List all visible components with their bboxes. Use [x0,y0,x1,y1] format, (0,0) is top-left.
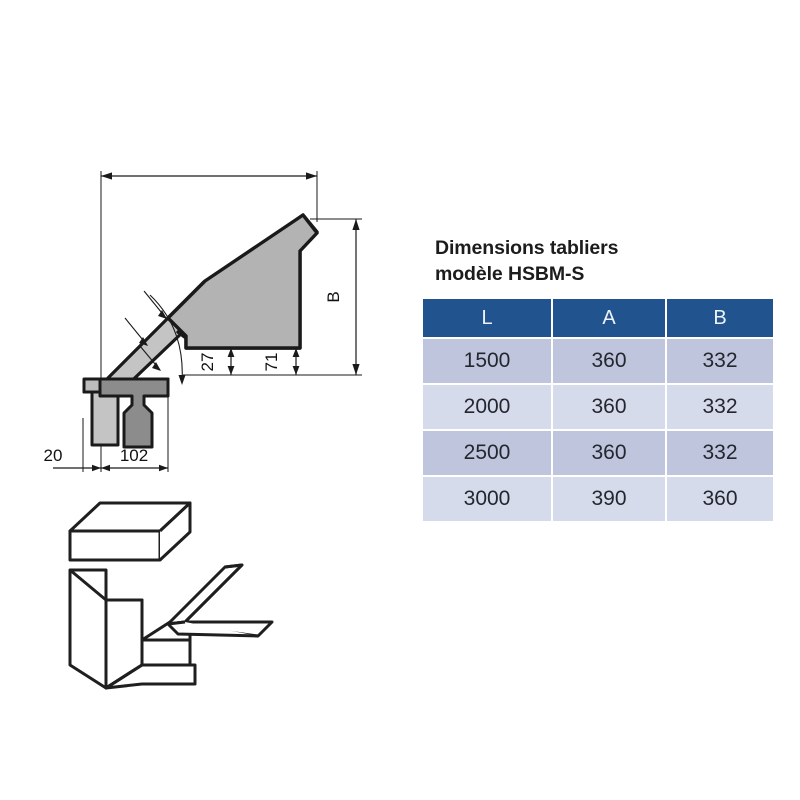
dimension-a-top [101,172,317,179]
cell-l: 2500 [423,431,551,475]
screenshot-root: B 71 27 [0,0,800,800]
cell-b: 332 [667,431,773,475]
cell-l: 1500 [423,339,551,383]
cell-a: 360 [553,339,665,383]
dimension-label-20: 20 [44,446,63,465]
apron-body-profile-outline [168,215,317,348]
dimension-label-71: 71 [262,353,281,372]
cell-a: 390 [553,477,665,521]
dimension-b-right [352,219,359,375]
dimension-label-27: 27 [198,353,217,372]
angle-arc-arrowhead [179,375,186,385]
cell-l: 2000 [423,385,551,429]
iso-tray-box [70,503,190,560]
table-row: 2000 360 332 [423,385,773,429]
dimension-label-b: B [324,291,343,302]
cell-l: 3000 [423,477,551,521]
column-header-b: B [667,299,773,337]
dimension-20 [53,465,101,471]
table-row: 2500 360 332 [423,431,773,475]
dimension-71 [293,348,300,375]
cell-b: 332 [667,385,773,429]
table-row: 1500 360 332 [423,339,773,383]
table-header-row: L A B [423,299,773,337]
column-header-a: A [553,299,665,337]
drawing-canvas: B 71 27 [0,0,410,800]
cell-b: 332 [667,339,773,383]
table-row: 3000 390 360 [423,477,773,521]
dimension-label-102: 102 [120,446,148,465]
dimension-27 [228,348,235,375]
cell-b: 360 [667,477,773,521]
cell-a: 360 [553,431,665,475]
cell-a: 360 [553,385,665,429]
technical-drawing-panel: B 71 27 [0,0,410,800]
dimensions-table: L A B 1500 360 332 2000 360 332 2500 [421,297,775,523]
column-header-l: L [423,299,551,337]
dimension-102 [101,465,168,471]
dimensions-table-panel: Dimensions tabliers modèle HSBM-S L A B … [421,236,769,523]
table-title: Dimensions tabliers modèle HSBM-S [435,236,769,287]
iso-vee-sheet [168,565,272,636]
